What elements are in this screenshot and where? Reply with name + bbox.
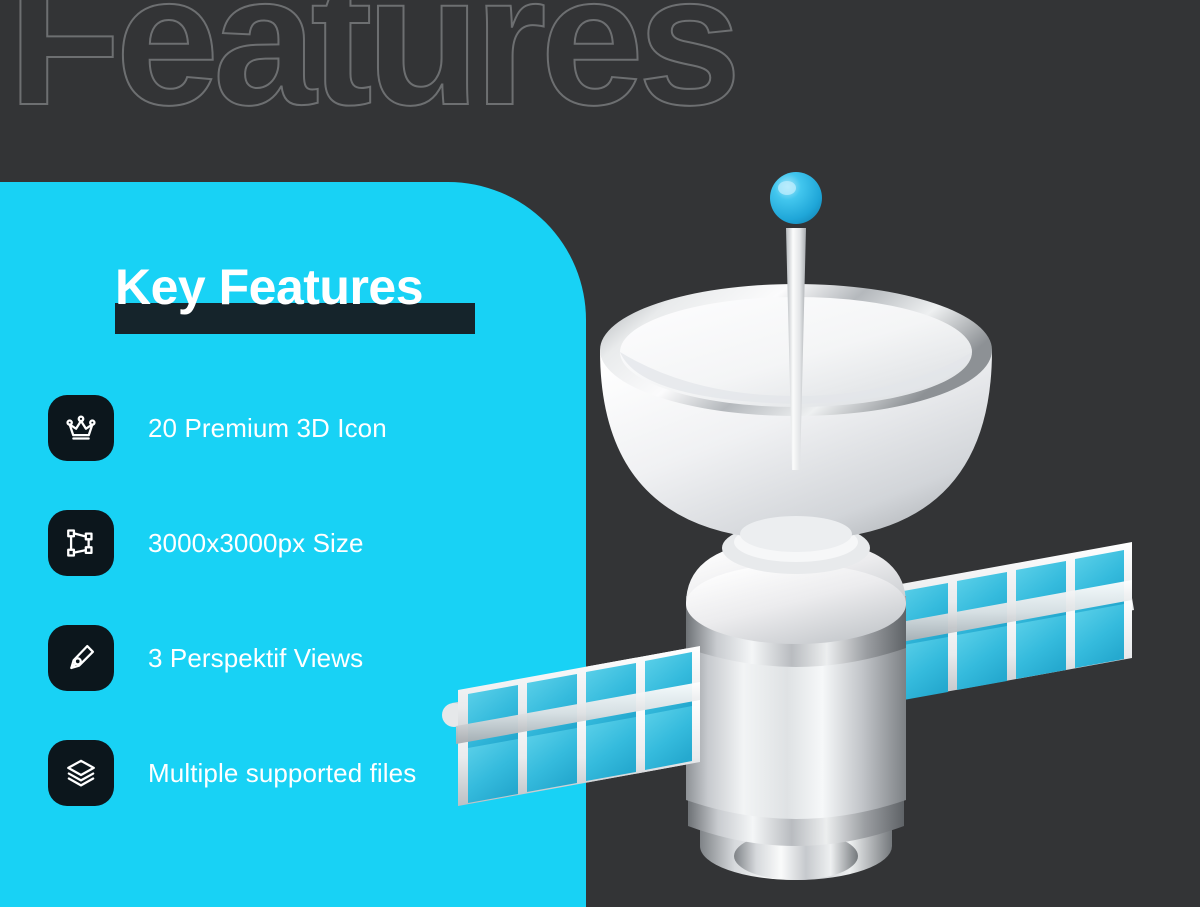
list-item[interactable]: 20 Premium 3D Icon [48, 395, 416, 461]
crown-icon [64, 411, 98, 445]
list-item-label: 3000x3000px Size [148, 528, 364, 559]
page-title: Key Features [115, 262, 423, 312]
feature-list: 20 Premium 3D Icon 3000x3000px Size [48, 395, 416, 855]
list-item-label: 3 Perspektif Views [148, 643, 363, 674]
vector-nodes-icon [64, 526, 98, 560]
page-title-text: Key Features [115, 262, 423, 312]
solar-panel-right [890, 542, 1134, 702]
poster-canvas: Features [0, 0, 1200, 907]
feature-icon-tile [48, 740, 114, 806]
list-item[interactable]: Multiple supported files [48, 740, 416, 806]
feature-icon-tile [48, 625, 114, 691]
feature-icon-tile [48, 510, 114, 576]
pen-nib-icon [64, 641, 98, 675]
satellite-body [686, 522, 906, 880]
list-item[interactable]: 3000x3000px Size [48, 510, 416, 576]
antenna-ball [770, 172, 822, 224]
list-item-label: Multiple supported files [148, 758, 416, 789]
layers-icon [64, 756, 98, 790]
list-item-label: 20 Premium 3D Icon [148, 413, 387, 444]
list-item[interactable]: 3 Perspektif Views [48, 625, 416, 691]
feature-icon-tile [48, 395, 114, 461]
